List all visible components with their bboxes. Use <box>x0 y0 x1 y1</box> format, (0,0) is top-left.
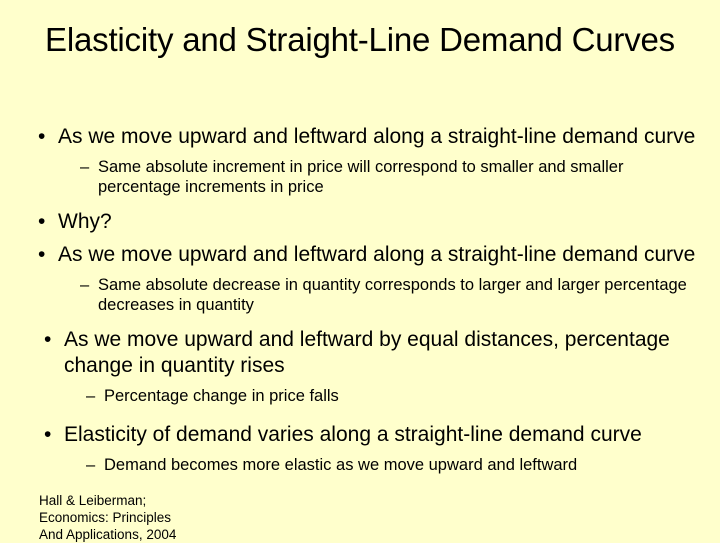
spacer <box>0 235 720 242</box>
sub-bullet-item: – Percentage change in price falls <box>0 386 720 406</box>
slide-body: • As we move upward and leftward along a… <box>0 124 720 475</box>
sub-bullet-text: Demand becomes more elastic as we move u… <box>104 455 700 475</box>
spacer <box>0 268 720 275</box>
bullet-text: As we move upward and leftward along a s… <box>58 242 702 268</box>
sub-bullet-text: Percentage change in price falls <box>104 386 700 406</box>
footer-credit: Hall & Leiberman; Economics: Principles … <box>39 492 299 543</box>
bullet-item: • As we move upward and leftward by equa… <box>0 327 720 379</box>
spacer <box>0 379 720 386</box>
bullet-marker-icon: • <box>38 209 58 235</box>
bullet-item: • Why? <box>0 209 720 235</box>
footer-credit-line-3: And Applications, 2004 <box>39 526 299 543</box>
bullet-text: Elasticity of demand varies along a stra… <box>64 422 702 448</box>
dash-marker-icon: – <box>86 386 104 406</box>
bullet-item: • As we move upward and leftward along a… <box>0 242 720 268</box>
spacer <box>0 197 720 209</box>
sub-bullet-text: Same absolute increment in price will co… <box>98 157 700 197</box>
spacer <box>0 150 720 157</box>
bullet-text: As we move upward and leftward by equal … <box>64 327 702 379</box>
sub-bullet-item: – Demand becomes more elastic as we move… <box>0 455 720 475</box>
bullet-item: • Elasticity of demand varies along a st… <box>0 422 720 448</box>
footer-credit-line-2: Economics: Principles <box>39 509 299 526</box>
slide: Elasticity and Straight-Line Demand Curv… <box>0 0 720 540</box>
dash-marker-icon: – <box>80 157 98 177</box>
dash-marker-icon: – <box>86 455 104 475</box>
slide-title: Elasticity and Straight-Line Demand Curv… <box>28 20 692 60</box>
sub-bullet-item: – Same absolute decrease in quantity cor… <box>0 275 720 315</box>
spacer <box>0 448 720 455</box>
sub-bullet-text: Same absolute decrease in quantity corre… <box>98 275 700 315</box>
dash-marker-icon: – <box>80 275 98 295</box>
bullet-text: Why? <box>58 209 702 235</box>
footer-credit-line-1: Hall & Leiberman; <box>39 492 299 509</box>
bullet-marker-icon: • <box>44 422 64 448</box>
bullet-item: • As we move upward and leftward along a… <box>0 124 720 150</box>
spacer <box>0 406 720 422</box>
bullet-marker-icon: • <box>38 124 58 150</box>
bullet-marker-icon: • <box>38 242 58 268</box>
spacer <box>0 315 720 327</box>
sub-bullet-item: – Same absolute increment in price will … <box>0 157 720 197</box>
bullet-marker-icon: • <box>44 327 64 353</box>
bullet-text: As we move upward and leftward along a s… <box>58 124 702 150</box>
